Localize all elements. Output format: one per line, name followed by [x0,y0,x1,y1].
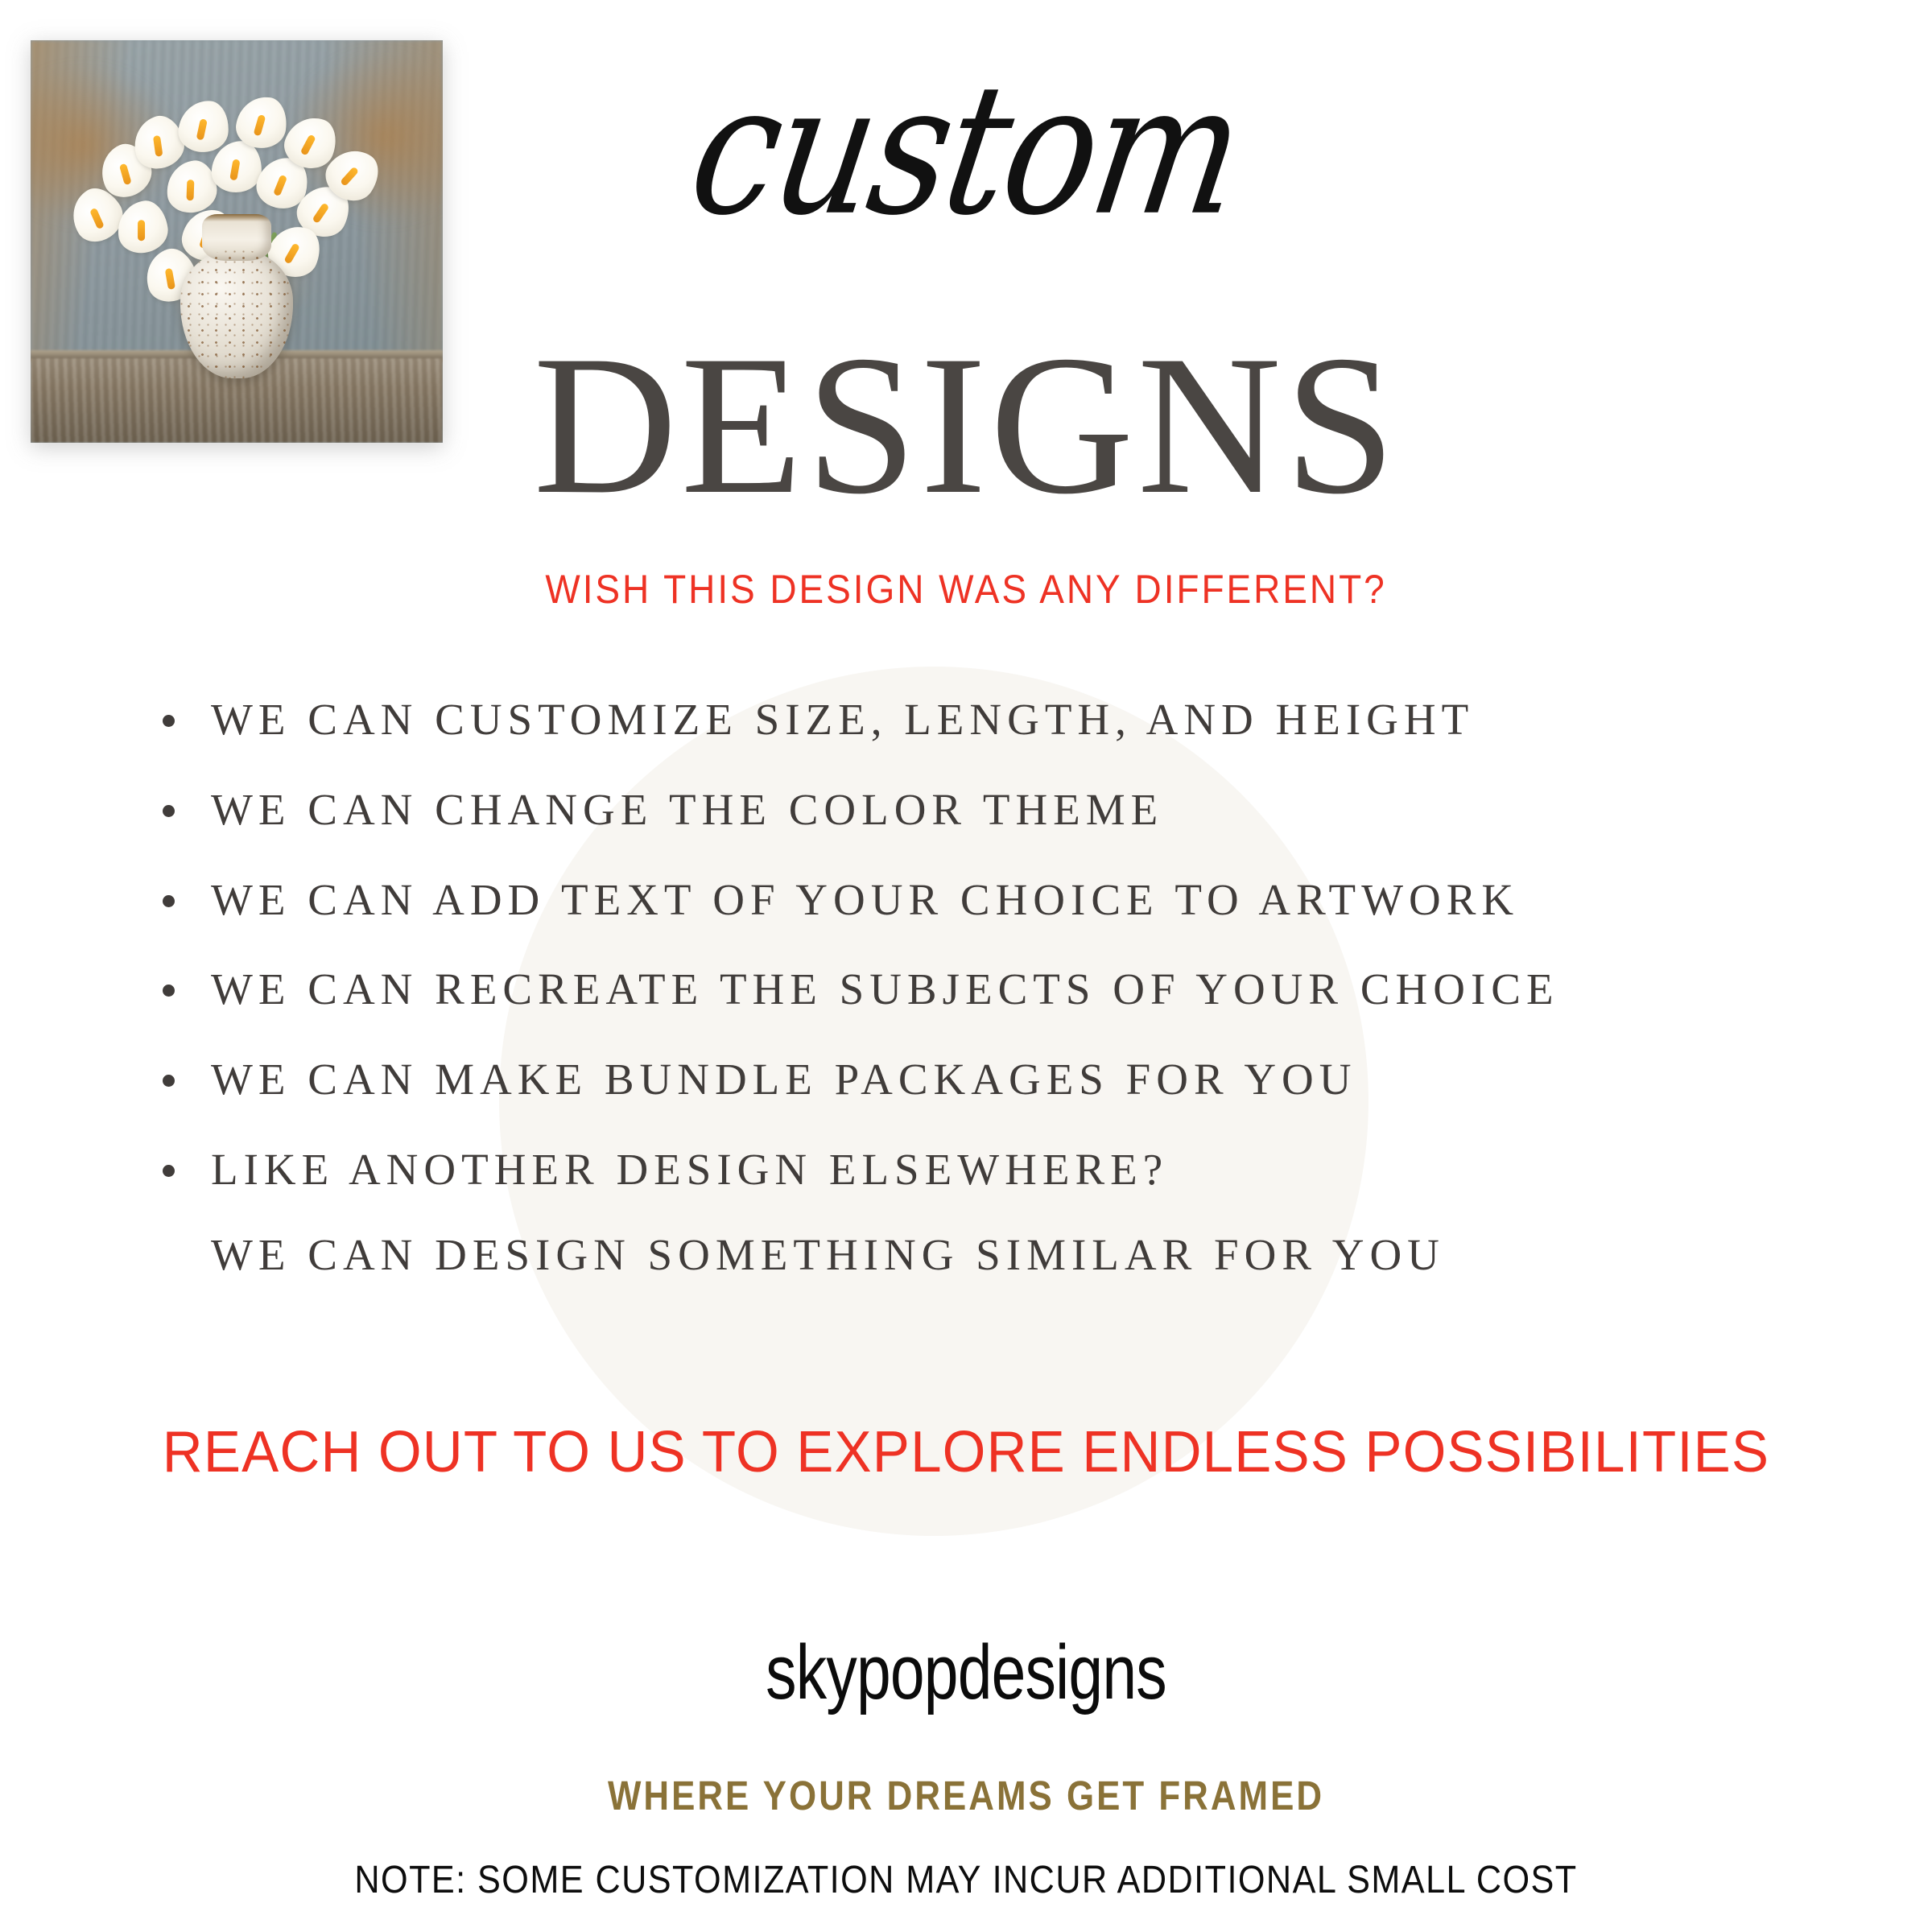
bullet-dot-icon [163,805,175,817]
brand-tagline: WHERE YOUR DREAMS GET FRAMED [135,1775,1797,1816]
list-item-label: WE CAN ADD TEXT OF YOUR CHOICE TO ARTWOR… [211,875,1519,924]
list-item-label: WE CAN CHANGE THE COLOR THEME [211,785,1163,834]
list-item-continuation: WE CAN DESIGN SOMETHING SIMILAR FOR YOU [161,1229,1819,1281]
list-item: WE CAN ADD TEXT OF YOUR CHOICE TO ARTWOR… [161,874,1819,926]
list-item: WE CAN MAKE BUNDLE PACKAGES FOR YOU [161,1054,1819,1105]
bullet-dot-icon [163,1165,175,1177]
bullet-dot-icon [163,1075,175,1087]
list-item: WE CAN RECREATE THE SUBJECTS OF YOUR CHO… [161,964,1819,1015]
footnote: NOTE: SOME CUSTOMIZATION MAY INCUR ADDIT… [97,1861,1835,1900]
cta-text: REACH OUT TO US TO EXPLORE ENDLESS POSSI… [39,1423,1893,1481]
list-item-label: WE CAN CUSTOMIZE SIZE, LENGTH, AND HEIGH… [211,695,1474,744]
list-item: WE CAN CUSTOMIZE SIZE, LENGTH, AND HEIGH… [161,694,1819,745]
tagline-question: WISH THIS DESIGN WAS ANY DIFFERENT? [77,569,1855,609]
bullet-dot-icon [163,895,175,907]
list-item-label: LIKE ANOTHER DESIGN ELSEWHERE? [211,1145,1168,1194]
poster-canvas: custom DESIGNS WISH THIS DESIGN WAS ANY … [0,0,1932,1932]
page-title-designs: DESIGNS [0,325,1932,525]
bullet-dot-icon [163,985,175,997]
brand-name: skypopdesigns [193,1634,1739,1711]
list-item-label: WE CAN RECREATE THE SUBJECTS OF YOUR CHO… [211,964,1559,1013]
list-item: WE CAN CHANGE THE COLOR THEME [161,784,1819,836]
list-item: LIKE ANOTHER DESIGN ELSEWHERE? [161,1144,1819,1195]
list-item-label: WE CAN MAKE BUNDLE PACKAGES FOR YOU [211,1055,1357,1104]
script-title-custom: custom [0,60,1932,241]
feature-list: WE CAN CUSTOMIZE SIZE, LENGTH, AND HEIGH… [161,694,1819,1281]
bullet-dot-icon [163,715,175,727]
